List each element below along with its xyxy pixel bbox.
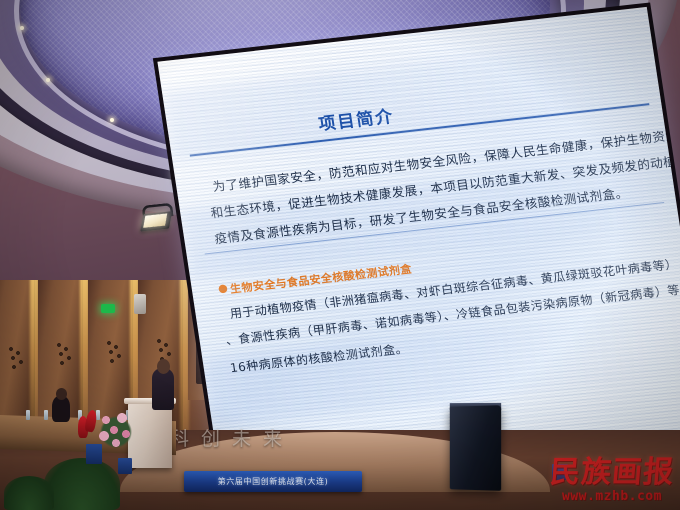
- stage-monitor-speaker: [450, 405, 501, 491]
- potted-plant: [44, 458, 120, 510]
- stage-riser-block: [118, 458, 132, 474]
- watermark-brand: 民族画报: [549, 458, 676, 488]
- exit-sign-icon: [101, 304, 115, 313]
- screenshot-root: 项目简介 为了维护国家安全，防范和应对生物安全风险，保障人民生命健康，保护生物资…: [0, 0, 680, 510]
- stage-riser-block: [86, 444, 102, 464]
- event-banner-label: 第六届中国创新挑战赛(大连): [218, 476, 329, 487]
- presenter-head: [157, 359, 170, 374]
- watermark: 民族画报 www.mzhb.com: [550, 458, 674, 504]
- backdrop-title: 科创未来: [170, 424, 380, 454]
- slide-surface: 项目简介 为了维护国家安全，防范和应对生物安全风险，保障人民生命健康，保护生物资…: [157, 7, 680, 489]
- slide-bullet-marker: ●: [217, 281, 229, 295]
- judge-head: [56, 388, 67, 400]
- led-presentation-screen: 项目简介 为了维护国家安全，防范和应对生物安全风险，保障人民生命健康，保护生物资…: [153, 2, 680, 493]
- wall-speaker-icon: [134, 294, 146, 314]
- flower-arrangement: [96, 410, 136, 452]
- presenter-at-podium: [152, 368, 174, 410]
- event-banner: 第六届中国创新挑战赛(大连): [184, 471, 362, 492]
- watermark-url: www.mzhb.com: [550, 489, 674, 504]
- potted-plant: [4, 476, 54, 510]
